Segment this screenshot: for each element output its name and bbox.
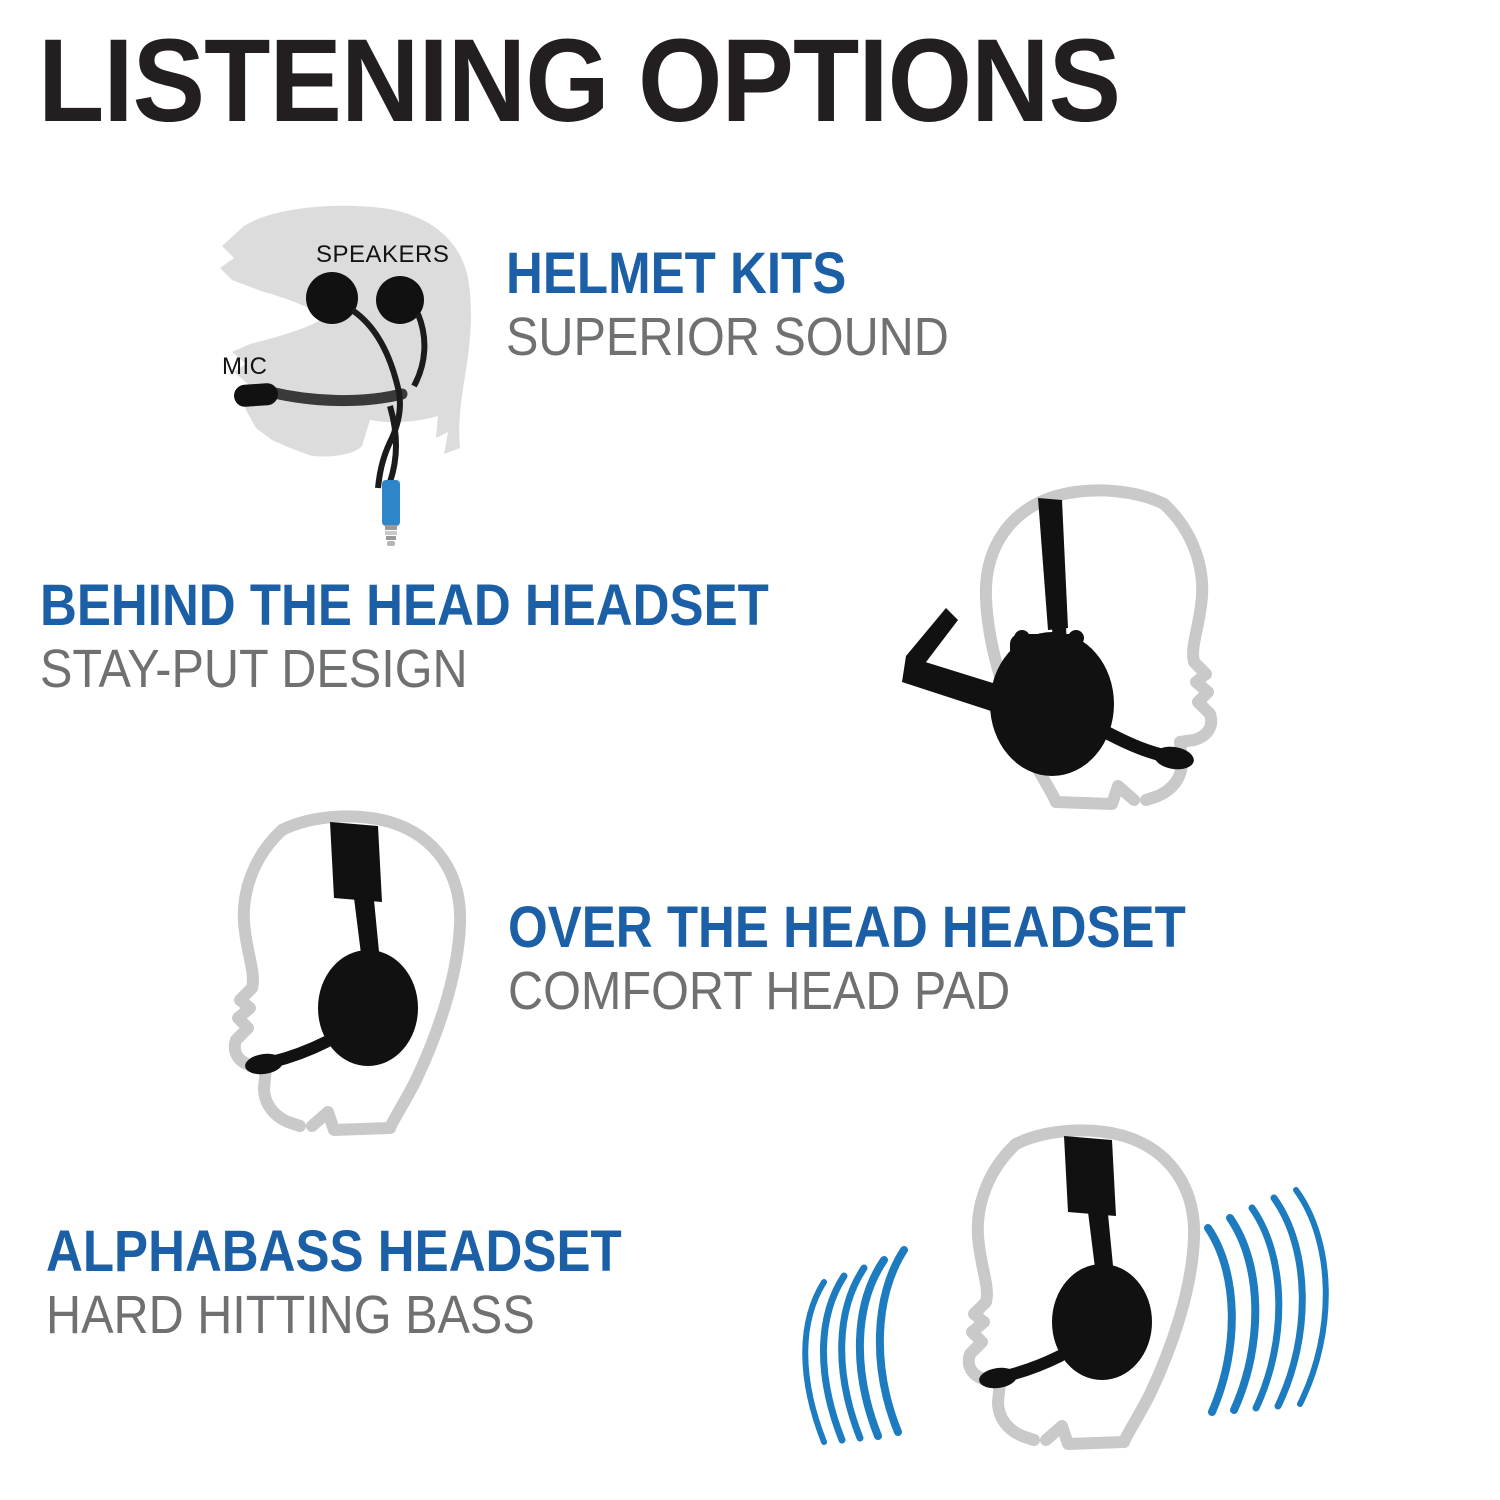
earcup: [318, 950, 418, 1066]
option-text-alphabass: ALPHABASS HEADSET HARD HITTING BASS: [46, 1222, 700, 1344]
comfort-head-pad: [1064, 1136, 1116, 1216]
option-title-behind-the-head: BEHIND THE HEAD HEADSET: [40, 576, 769, 635]
behind-the-head-headset-illustration: [862, 486, 1242, 816]
listening-options-infographic: LISTENING OPTIONS SPEAKERS MI: [0, 0, 1500, 1500]
audio-jack-barrel: [382, 480, 400, 526]
earcup: [1052, 1264, 1152, 1380]
option-text-helmet-kits: HELMET KITS SUPERIOR SOUND: [506, 244, 998, 366]
page-title: LISTENING OPTIONS: [38, 22, 1120, 140]
speaker-left-disc: [306, 272, 358, 324]
helmet-kit-illustration: SPEAKERS MIC: [212, 196, 512, 556]
mic-callout-label: MIC: [222, 353, 268, 380]
option-subtitle-over-the-head: COMFORT HEAD PAD: [508, 963, 1201, 1020]
option-subtitle-behind-the-head: STAY-PUT DESIGN: [40, 641, 785, 698]
option-subtitle-helmet-kits: SUPERIOR SOUND: [506, 309, 949, 366]
option-subtitle-alphabass: HARD HITTING BASS: [46, 1287, 635, 1344]
speakers-callout-label: SPEAKERS: [316, 241, 449, 268]
option-title-over-the-head: OVER THE HEAD HEADSET: [508, 898, 1186, 957]
option-title-helmet-kits: HELMET KITS: [506, 244, 939, 303]
option-title-alphabass: ALPHABASS HEADSET: [46, 1222, 622, 1281]
sound-waves-right: [1208, 1190, 1326, 1412]
option-text-over-the-head: OVER THE HEAD HEADSET COMFORT HEAD PAD: [508, 898, 1278, 1020]
option-text-behind-the-head: BEHIND THE HEAD HEADSET STAY-PUT DESIGN: [40, 576, 868, 698]
sound-waves-left: [805, 1250, 904, 1442]
over-the-head-headset-illustration: [222, 812, 522, 1142]
comfort-head-pad: [330, 822, 382, 902]
alphabass-headset-illustration: [788, 1120, 1328, 1480]
headband-top-strap: [1038, 498, 1068, 630]
